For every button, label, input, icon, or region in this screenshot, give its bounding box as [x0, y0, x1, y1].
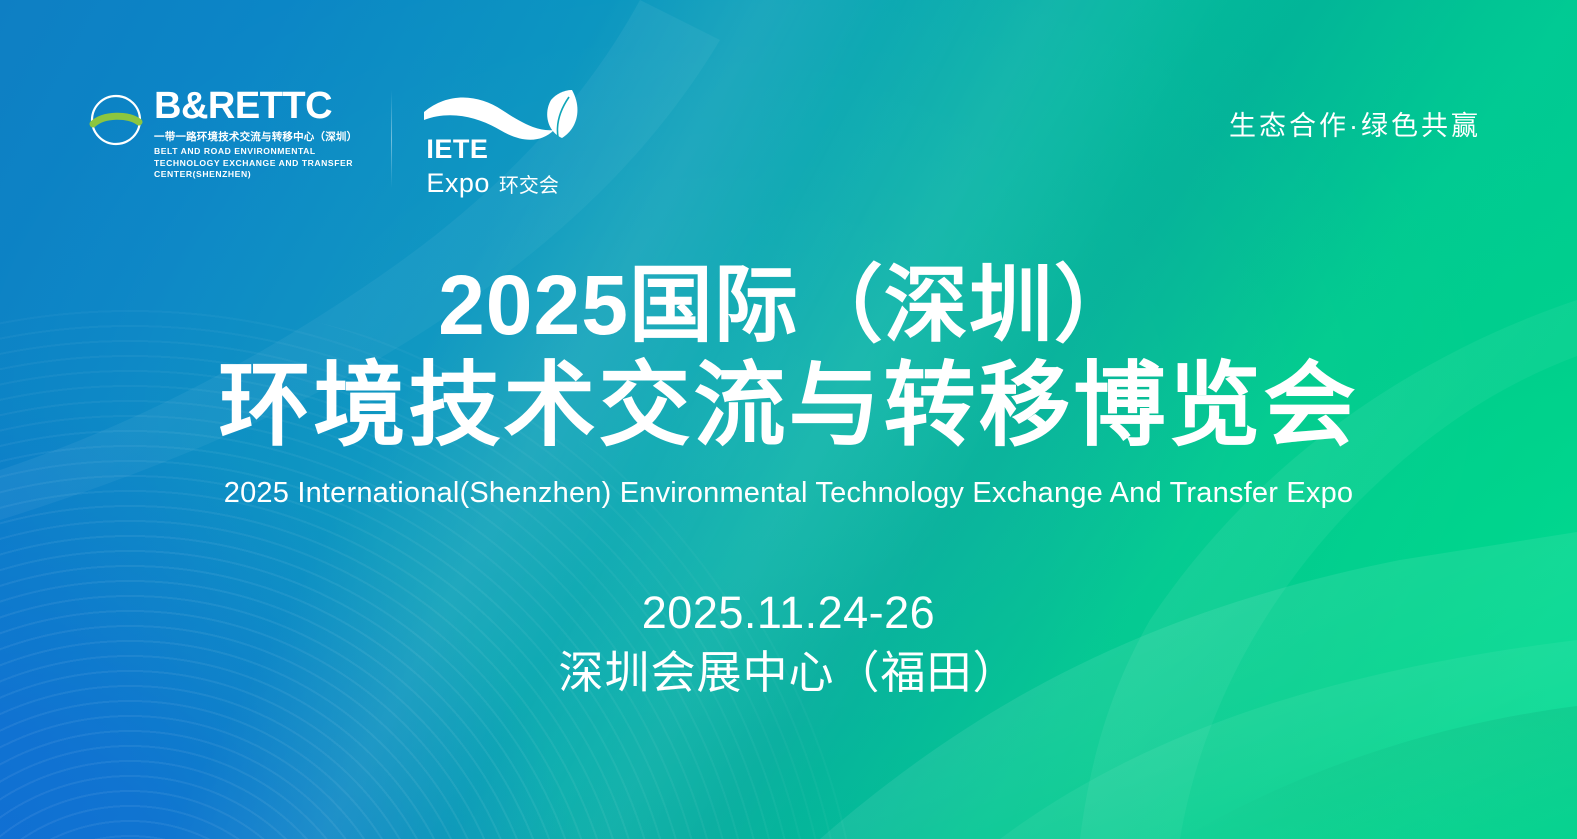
event-title-line1: 2025国际（深圳）: [0, 258, 1577, 352]
banner-tagline: 生态合作·绿色共赢: [1229, 104, 1481, 143]
event-title-line2: 环境技术交流与转移博览会: [0, 356, 1577, 457]
iete-abbr-row: IETE: [426, 136, 488, 163]
event-venue: 深圳会展中心（福田）: [0, 645, 1577, 701]
brettc-name-en-line1: BELT AND ROAD ENVIRONMENTAL: [154, 146, 357, 157]
brettc-name-en-line2: TECHNOLOGY EXCHANGE AND TRANSFER: [154, 158, 357, 169]
event-date: 2025.11.24-26: [0, 586, 1577, 641]
iete-name-cn: 环交会: [499, 176, 559, 196]
banner-header: B&RETTC 一带一路环境技术交流与转移中心（深圳） BELT AND ROA…: [88, 88, 582, 188]
banner-main-content: 2025国际（深圳） 环境技术交流与转移博览会 2025 Internation…: [0, 258, 1577, 701]
brettc-wordmark: B&RETTC: [154, 88, 357, 125]
brettc-text-block: B&RETTC 一带一路环境技术交流与转移中心（深圳） BELT AND ROA…: [154, 88, 357, 180]
iete-name-row: Expo 环交会: [426, 170, 559, 197]
iete-abbr: IETE: [426, 136, 488, 163]
brettc-name-en-line3: CENTER(SHENZHEN): [154, 169, 357, 180]
brettc-name-en: BELT AND ROAD ENVIRONMENTAL TECHNOLOGY E…: [154, 146, 357, 180]
logo-divider: [391, 90, 392, 188]
event-meta: 2025.11.24-26 深圳会展中心（福田）: [0, 586, 1577, 701]
globe-emblem-icon: [88, 92, 144, 148]
iete-expo-word: Expo: [426, 170, 490, 197]
brettc-name-cn: 一带一路环境技术交流与转移中心（深圳）: [154, 129, 357, 144]
event-subtitle-en: 2025 International(Shenzhen) Environment…: [0, 477, 1577, 510]
brettc-logo: B&RETTC 一带一路环境技术交流与转移中心（深圳） BELT AND ROA…: [88, 88, 357, 180]
iete-expo-logo: IETE Expo 环交会: [422, 88, 582, 188]
event-banner: B&RETTC 一带一路环境技术交流与转移中心（深圳） BELT AND ROA…: [0, 0, 1577, 839]
